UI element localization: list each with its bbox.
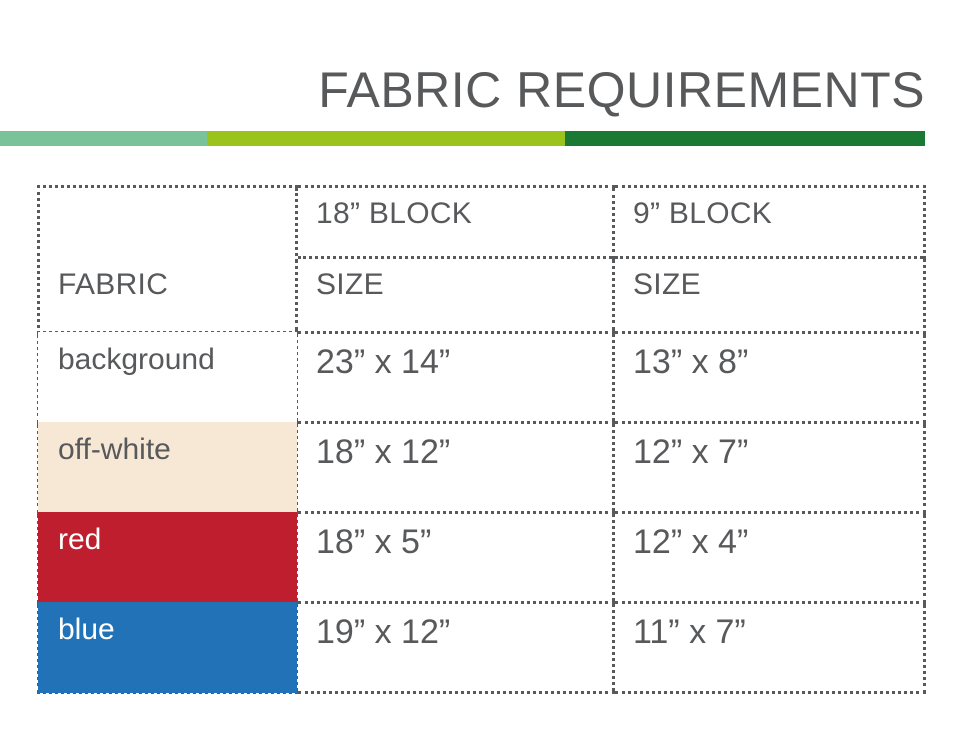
header-cell-size-18: SIZE [297,258,614,333]
table-row: off-white 18” x 12” 12” x 7” [39,423,925,513]
size-cell-18: 18” x 5” [297,513,614,603]
fabric-swatch-cell: off-white [39,423,297,513]
fabric-name-label: red [58,523,101,556]
size-cell-9: 12” x 7” [614,423,925,513]
table-header-row-size: FABRIC SIZE SIZE [39,258,925,333]
size-cell-18: 23” x 14” [297,333,614,423]
size-cell-18: 19” x 12” [297,603,614,693]
table-row: red 18” x 5” 12” x 4” [39,513,925,603]
header-cell-block-9: 9” BLOCK [614,187,925,258]
fabric-name-label: blue [58,613,115,646]
table-header-row-block: 18” BLOCK 9” BLOCK [39,187,925,258]
header-cell-block-18: 18” BLOCK [297,187,614,258]
size-cell-18: 18” x 12” [297,423,614,513]
fabric-name-label: background [58,343,215,376]
accent-bar-segment-lime-green [207,131,565,146]
fabric-requirements-table: 18” BLOCK 9” BLOCK FABRIC SIZE SIZE back… [37,185,926,694]
accent-bar [0,131,925,146]
header-cell-blank [39,187,297,258]
table-row: blue 19” x 12” 11” x 7” [39,603,925,693]
header-cell-fabric: FABRIC [39,258,297,333]
fabric-swatch-cell: background [39,333,297,423]
size-cell-9: 11” x 7” [614,603,925,693]
size-cell-9: 12” x 4” [614,513,925,603]
fabric-swatch-cell: blue [39,603,297,693]
accent-bar-segment-dark-green [565,131,925,146]
accent-bar-segment-teal-green [0,131,207,146]
size-cell-9: 13” x 8” [614,333,925,423]
page-title: FABRIC REQUIREMENTS [0,62,925,118]
fabric-swatch-cell: red [39,513,297,603]
fabric-name-label: off-white [58,433,171,466]
table-row: background 23” x 14” 13” x 8” [39,333,925,423]
header-cell-size-9: SIZE [614,258,925,333]
